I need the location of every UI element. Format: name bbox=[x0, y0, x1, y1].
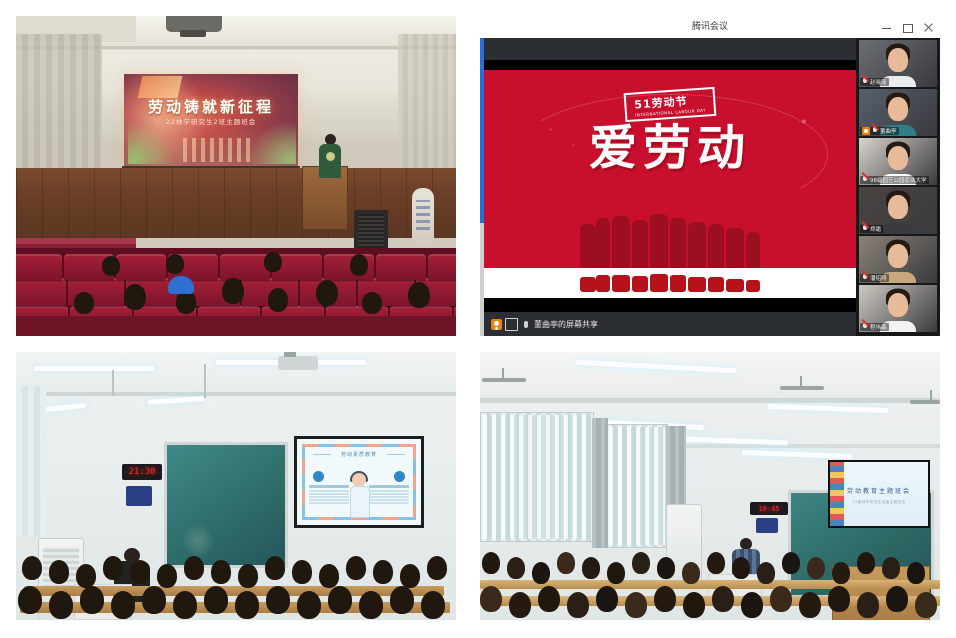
projection-screen-frame: 劳动教育主题班会 22级林学研究生班级主题班会 bbox=[828, 460, 930, 528]
window-curtain bbox=[592, 418, 608, 548]
worker-figure-lower bbox=[708, 277, 724, 292]
student-head bbox=[828, 586, 850, 612]
participant-name-badge: 98级园艺公园农业大学 bbox=[860, 176, 929, 184]
participant-tile[interactable]: 董曲亭 bbox=[859, 89, 937, 136]
led-clock-value: 10:45 bbox=[758, 505, 779, 513]
student-head bbox=[268, 288, 288, 312]
student-head bbox=[49, 591, 73, 619]
slide-content: 劳动素质教育 bbox=[297, 439, 421, 525]
worker-figure bbox=[632, 220, 648, 268]
student-head bbox=[882, 557, 900, 579]
student-head bbox=[741, 592, 763, 618]
student-head bbox=[607, 562, 625, 584]
worker-figure-lower bbox=[596, 275, 610, 292]
slide-left-column bbox=[309, 485, 349, 505]
student-blue-cap bbox=[168, 276, 194, 294]
student-head bbox=[732, 557, 750, 579]
student-head bbox=[480, 586, 502, 612]
projection-screen: 劳动铸就新征程 22林学研究生2班主题班会 bbox=[124, 74, 298, 166]
wood-grain bbox=[16, 168, 456, 238]
worker-figure bbox=[746, 232, 760, 268]
mic-muted-icon bbox=[862, 78, 868, 86]
participant-name: 潘绍翔 bbox=[870, 274, 887, 282]
student-head bbox=[682, 562, 700, 584]
participant-tile[interactable]: 98级园艺公园农业大学 bbox=[859, 138, 937, 185]
projector-mount-icon bbox=[166, 16, 222, 32]
participant-torso bbox=[880, 223, 916, 234]
student-head bbox=[632, 552, 650, 574]
ceiling-beam bbox=[16, 392, 456, 396]
light-rod bbox=[112, 370, 114, 396]
student-head bbox=[74, 292, 94, 314]
student-head bbox=[400, 564, 420, 588]
slide-worker-figures-lower bbox=[484, 268, 856, 298]
stage-wood-panel bbox=[16, 168, 456, 238]
mic-muted-icon bbox=[862, 225, 868, 233]
student-head bbox=[292, 560, 312, 584]
student-head bbox=[102, 256, 120, 276]
maximize-icon[interactable] bbox=[902, 22, 913, 33]
worker-figure bbox=[726, 228, 744, 268]
student-head bbox=[625, 592, 647, 618]
ceiling-projector bbox=[278, 356, 318, 370]
slide-white-strip bbox=[484, 268, 856, 298]
participant-face bbox=[888, 244, 908, 268]
close-icon[interactable] bbox=[923, 22, 934, 33]
participant-name: 郑霜 bbox=[870, 225, 881, 233]
letterbox-bottom bbox=[484, 298, 856, 312]
photo-auditorium-class-meeting: 劳动铸就新征程 22林学研究生2班主题班会 bbox=[16, 16, 456, 336]
student-head bbox=[346, 556, 366, 580]
mic-muted-icon bbox=[862, 176, 868, 184]
wall-sign bbox=[756, 518, 778, 533]
ceiling-light bbox=[34, 366, 154, 371]
participant-face bbox=[888, 146, 908, 170]
projection-screen-frame: 劳动素质教育 bbox=[294, 436, 424, 528]
host-icon bbox=[862, 127, 870, 135]
ceiling-fan bbox=[910, 400, 940, 404]
student-head bbox=[482, 552, 500, 574]
worker-figure bbox=[708, 224, 724, 268]
participant-tile[interactable]: 郑霜 bbox=[859, 187, 937, 234]
decorative-vase bbox=[412, 188, 434, 250]
person-icon bbox=[491, 319, 502, 330]
student-head bbox=[22, 556, 42, 580]
front-row-seats bbox=[16, 316, 456, 336]
participant-face bbox=[888, 293, 908, 317]
shared-slide: 51劳动节 INTERNATIONAL LABOUR DAY 爱劳动 bbox=[484, 70, 856, 268]
light-rod bbox=[204, 364, 206, 398]
photo-collage: 劳动铸就新征程 22林学研究生2班主题班会 腾讯会议 bbox=[0, 0, 956, 638]
speaker-person bbox=[316, 134, 344, 190]
student-head bbox=[567, 592, 589, 618]
student-head bbox=[915, 592, 937, 618]
worker-figure bbox=[650, 214, 668, 268]
window-controls bbox=[881, 16, 934, 38]
student-head bbox=[328, 586, 352, 614]
letterbox-top bbox=[484, 60, 856, 70]
student-head bbox=[782, 552, 800, 574]
student-head bbox=[807, 557, 825, 579]
share-status-label: 董曲亭的屏幕共享 bbox=[534, 319, 598, 330]
screen-icon bbox=[505, 318, 518, 331]
participant-name-badge: 程伟森 bbox=[860, 323, 889, 331]
wall-sign bbox=[126, 486, 152, 506]
student-head bbox=[124, 284, 146, 310]
student-head bbox=[532, 562, 550, 584]
mic-muted-icon bbox=[872, 127, 878, 135]
student-head bbox=[707, 552, 725, 574]
photo-lecture-hall-session: 10:45 劳动教育主题班会 22级林学研究生班级主题班会 bbox=[480, 352, 940, 620]
student-head bbox=[103, 556, 123, 580]
student-head bbox=[408, 282, 430, 308]
worker-figure-lower bbox=[688, 277, 706, 292]
window-titlebar: 腾讯会议 bbox=[480, 16, 940, 39]
ceiling-fan bbox=[482, 378, 526, 382]
share-toolbar[interactable] bbox=[484, 38, 856, 60]
screen-ribbon bbox=[138, 76, 183, 98]
slide-headline: 爱劳动 bbox=[484, 108, 856, 178]
student-head bbox=[319, 564, 339, 588]
student-head bbox=[857, 552, 875, 574]
student-head bbox=[683, 592, 705, 618]
ceiling-fan bbox=[780, 386, 824, 390]
worker-figure-lower bbox=[612, 275, 630, 292]
minimize-icon[interactable] bbox=[881, 22, 892, 33]
student-head bbox=[18, 586, 42, 614]
student-head bbox=[757, 562, 775, 584]
student-head bbox=[316, 280, 338, 306]
auditorium-seat bbox=[376, 254, 426, 280]
worker-figure bbox=[612, 216, 630, 268]
screen-share-status: 董曲亭的屏幕共享 bbox=[488, 317, 601, 332]
student-head bbox=[76, 564, 96, 588]
screen-leaf-left bbox=[128, 122, 174, 164]
participant-tile[interactable]: 程伟森 bbox=[859, 285, 937, 332]
participant-tile[interactable]: 赵晓丽 bbox=[859, 40, 937, 87]
auditorium-seat bbox=[16, 278, 66, 306]
ceiling-beam bbox=[480, 398, 940, 403]
worker-figure bbox=[688, 222, 706, 268]
participant-name-badge: 郑霜 bbox=[860, 225, 883, 233]
student-head bbox=[657, 557, 675, 579]
student-head bbox=[799, 592, 821, 618]
participant-name: 董曲亭 bbox=[880, 127, 897, 135]
participant-video-list[interactable]: 赵晓丽董曲亭98级园艺公园农业大学郑霜潘绍翔程伟森 bbox=[856, 38, 940, 336]
student-head bbox=[582, 557, 600, 579]
participant-name: 程伟森 bbox=[870, 323, 887, 331]
slide-subtitle: 22级林学研究生班级主题班会 bbox=[830, 500, 928, 505]
screen-leaf-right bbox=[248, 120, 296, 164]
participant-tile[interactable]: 潘绍翔 bbox=[859, 236, 937, 283]
classroom-ceiling bbox=[16, 352, 456, 396]
student-head bbox=[297, 591, 321, 619]
student-head bbox=[507, 557, 525, 579]
student-head bbox=[166, 254, 184, 274]
student-head bbox=[173, 591, 197, 619]
student-head bbox=[390, 586, 414, 614]
student-head bbox=[111, 591, 135, 619]
student-head bbox=[832, 562, 850, 584]
slide-title: 劳动素质教育 bbox=[297, 451, 421, 458]
slide-content: 劳动教育主题班会 22级林学研究生班级主题班会 bbox=[830, 462, 928, 526]
slide-bullet-icon bbox=[313, 471, 324, 482]
student-head bbox=[142, 586, 166, 614]
worker-figure bbox=[670, 218, 686, 268]
student-head bbox=[222, 278, 244, 304]
participant-name: 98级园艺公园农业大学 bbox=[870, 176, 927, 184]
worker-figure bbox=[580, 224, 596, 268]
student-head bbox=[204, 586, 228, 614]
student-head bbox=[157, 564, 177, 588]
auditorium-seat bbox=[428, 254, 456, 280]
student-head bbox=[421, 591, 445, 619]
led-clock: 21:30 bbox=[122, 464, 162, 480]
student-head bbox=[49, 560, 69, 584]
photo-classroom-lecture: 21:30 劳动素质教育 bbox=[16, 352, 456, 620]
student-head bbox=[265, 556, 285, 580]
slide-worker-figures bbox=[484, 206, 856, 268]
student-head bbox=[770, 586, 792, 612]
student-audience bbox=[16, 528, 456, 620]
student-head bbox=[538, 586, 560, 612]
screen-title: 劳动铸就新征程 bbox=[124, 96, 298, 117]
student-head bbox=[509, 592, 531, 618]
microphone-icon bbox=[524, 321, 528, 328]
student-head bbox=[373, 560, 393, 584]
worker-figure bbox=[596, 218, 610, 268]
tencent-meeting-window: 腾讯会议 51劳动节 INTERNATIONAL LABOUR DAY bbox=[480, 16, 940, 336]
slide-right-column bbox=[369, 485, 409, 505]
auditorium-seat bbox=[220, 254, 270, 280]
student-audience bbox=[480, 540, 940, 620]
student-head bbox=[907, 562, 925, 584]
slide-title: 劳动教育主题班会 bbox=[830, 486, 928, 495]
mic-muted-icon bbox=[862, 323, 868, 331]
auditorium-seat bbox=[16, 254, 62, 280]
led-clock-value: 21:30 bbox=[128, 467, 155, 477]
hall-window bbox=[606, 424, 668, 548]
participant-name-badge: 潘绍翔 bbox=[860, 274, 889, 282]
classroom-window bbox=[16, 386, 46, 536]
hall-ceiling bbox=[480, 352, 940, 400]
student-head bbox=[80, 586, 104, 614]
student-head bbox=[712, 586, 734, 612]
worker-figure-lower bbox=[580, 277, 596, 292]
student-head bbox=[350, 254, 368, 276]
participant-name-badge: 董曲亭 bbox=[860, 127, 899, 135]
student-head bbox=[596, 586, 618, 612]
student-head bbox=[362, 292, 382, 314]
student-head bbox=[266, 586, 290, 614]
student-head bbox=[557, 552, 575, 574]
window-title: 腾讯会议 bbox=[480, 16, 940, 38]
student-head bbox=[238, 564, 258, 588]
participant-name-badge: 赵晓丽 bbox=[860, 78, 889, 86]
worker-figure-lower bbox=[726, 279, 744, 292]
worker-figure-lower bbox=[632, 276, 648, 292]
mic-muted-icon bbox=[862, 274, 868, 282]
student-head bbox=[359, 591, 383, 619]
participant-face bbox=[888, 195, 908, 219]
hall-window bbox=[480, 412, 594, 542]
student-head bbox=[264, 252, 282, 272]
student-head bbox=[886, 586, 908, 612]
slide-person-illustration bbox=[348, 473, 370, 521]
student-head bbox=[427, 556, 447, 580]
auditorium-seat bbox=[116, 254, 166, 280]
student-head bbox=[235, 591, 259, 619]
slide-bullet-icon bbox=[394, 471, 405, 482]
shared-screen-stage: 51劳动节 INTERNATIONAL LABOUR DAY 爱劳动 董曲亭的屏… bbox=[484, 38, 856, 336]
student-head bbox=[211, 560, 231, 584]
student-head bbox=[857, 592, 879, 618]
led-clock: 10:45 bbox=[750, 502, 788, 515]
student-head bbox=[130, 560, 150, 584]
screen-subtitle: 22林学研究生2班主题班会 bbox=[124, 116, 298, 126]
worker-figure-lower bbox=[746, 280, 760, 292]
student-head bbox=[654, 586, 676, 612]
participant-name: 赵晓丽 bbox=[870, 78, 887, 86]
photo-tencent-meeting-screenshare: 腾讯会议 51劳动节 INTERNATIONAL LABOUR DAY bbox=[480, 16, 940, 336]
student-head bbox=[184, 556, 204, 580]
worker-figure-lower bbox=[650, 274, 668, 292]
participant-face bbox=[888, 48, 908, 72]
participant-face bbox=[888, 97, 908, 121]
worker-figure-lower bbox=[670, 275, 686, 292]
